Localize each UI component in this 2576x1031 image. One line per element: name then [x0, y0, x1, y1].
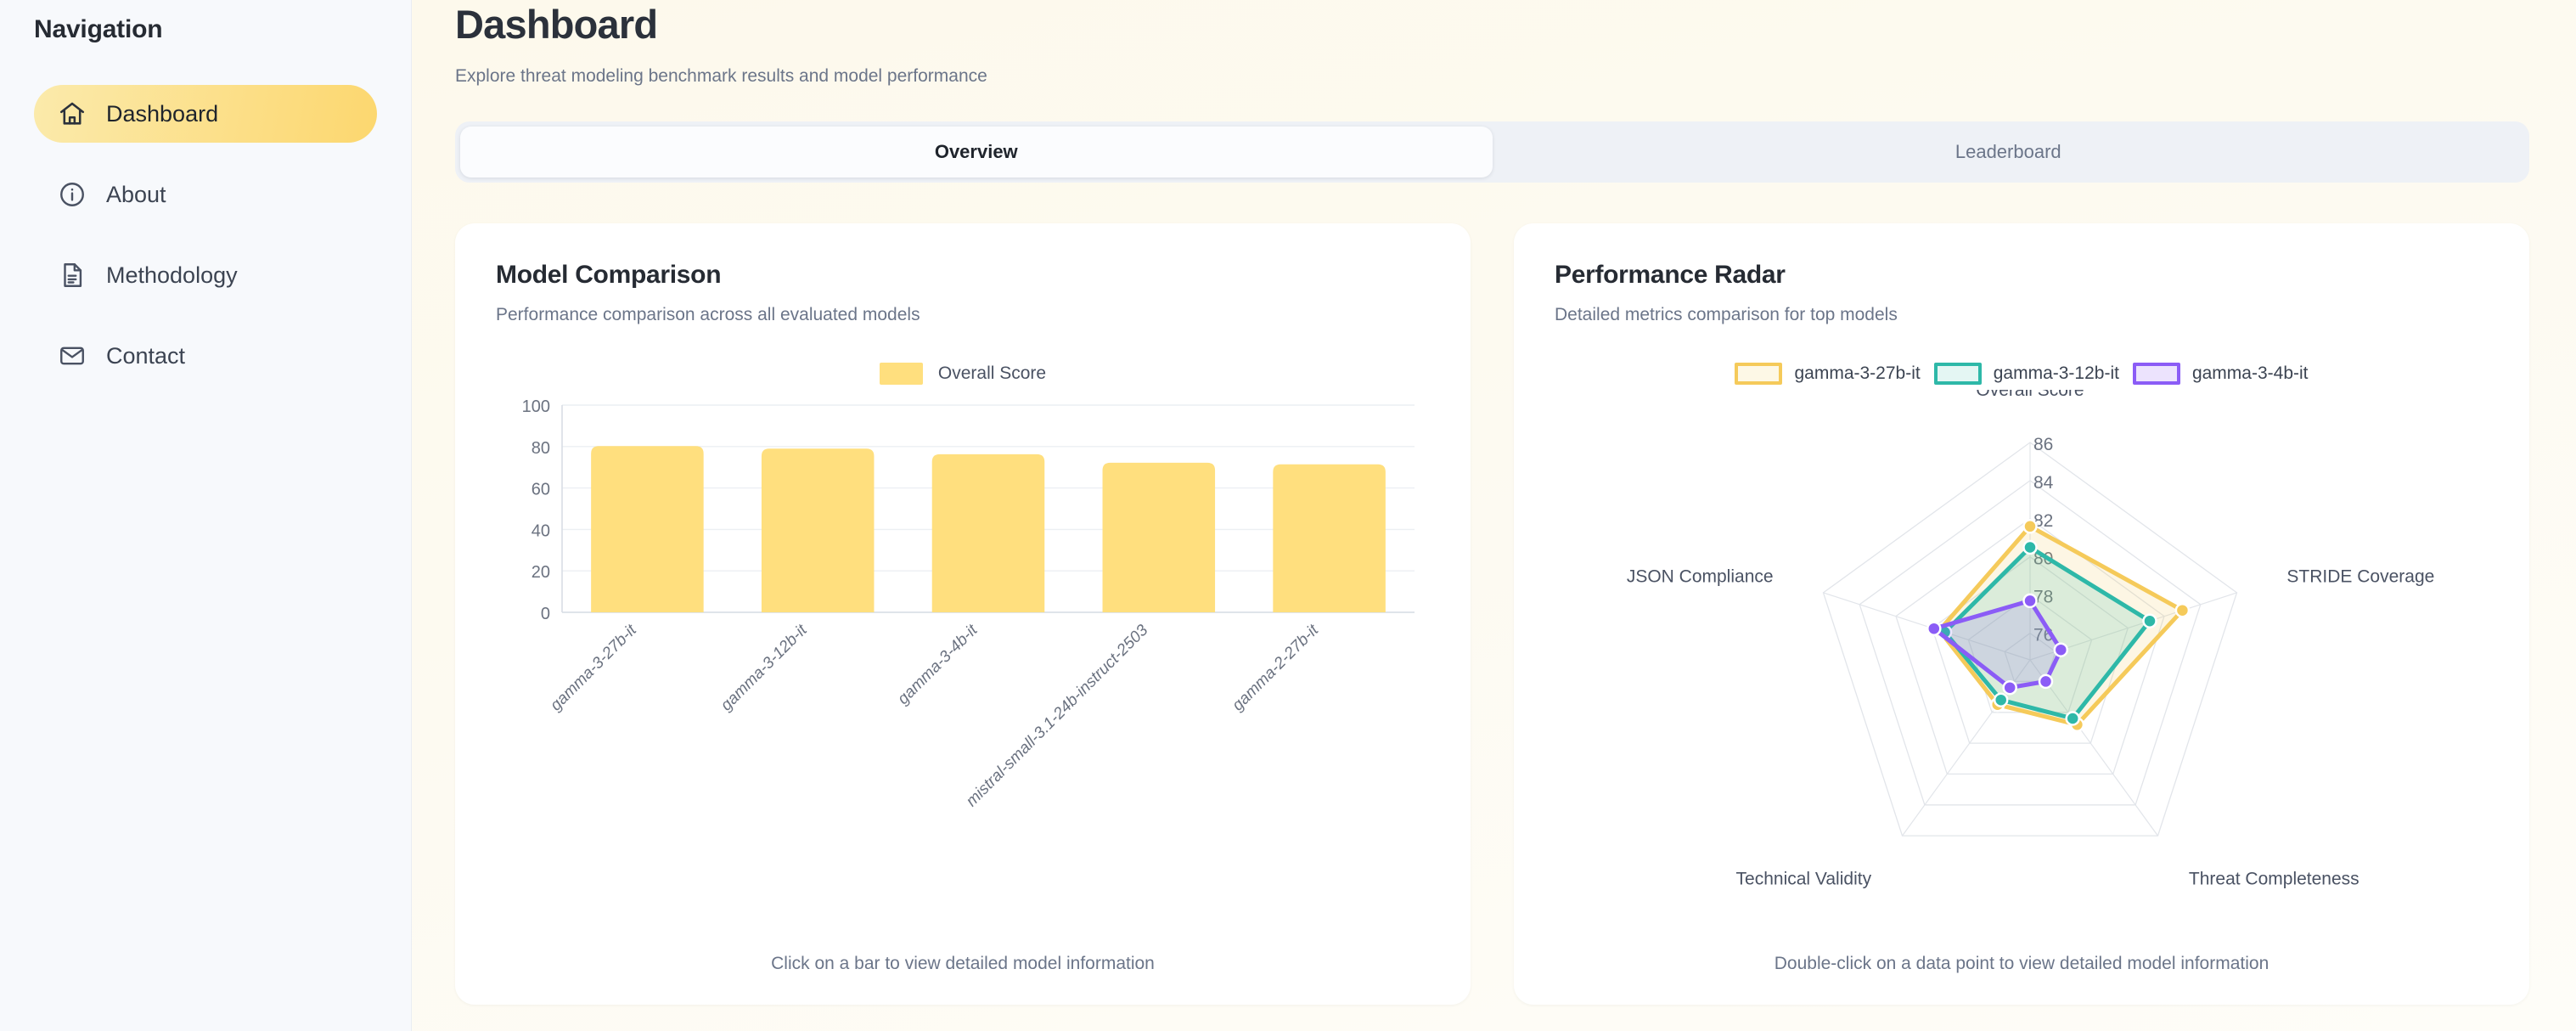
sidebar-item-dashboard[interactable]: Dashboard: [34, 85, 377, 143]
card-subtitle: Performance comparison across all evalua…: [496, 305, 1430, 325]
page-subtitle: Explore threat modeling benchmark result…: [455, 66, 2529, 87]
performance-radar-card: Performance Radar Detailed metrics compa…: [1514, 223, 2529, 1005]
legend-swatch-series-2: [1934, 363, 1982, 385]
sidebar-item-methodology[interactable]: Methodology: [34, 246, 377, 304]
legend-label-series-3: gamma-3-4b-it: [2192, 363, 2309, 384]
bar-tick-label: gamma-2-27b-it: [1229, 621, 1322, 714]
legend-item-series-2[interactable]: gamma-3-12b-it: [1934, 363, 2119, 385]
sidebar-item-label: Dashboard: [106, 101, 218, 127]
bar-tick-label: gamma-3-4b-it: [894, 621, 981, 708]
card-subtitle: Detailed metrics comparison for top mode…: [1555, 305, 2489, 325]
mail-icon: [58, 341, 87, 370]
radar-point: [2024, 541, 2037, 554]
tab-bar: Overview Leaderboard: [455, 121, 2529, 183]
radar-point: [2144, 615, 2157, 628]
legend-label-series-2: gamma-3-12b-it: [1994, 363, 2119, 384]
model-comparison-card: Model Comparison Performance comparison …: [455, 223, 1471, 1005]
svg-text:0: 0: [541, 605, 550, 623]
radar-point: [2176, 604, 2189, 617]
radar-point: [2067, 713, 2079, 725]
bar-chart-legend: Overall Score: [496, 363, 1430, 385]
radar-axis-label: Threat Completeness: [2189, 869, 2359, 888]
svg-text:20: 20: [532, 563, 550, 582]
radar-tick-label: 84: [2033, 473, 2054, 493]
radar-point: [2055, 644, 2067, 656]
sidebar: Navigation Dashboard About: [0, 0, 412, 1031]
legend-label-overall-score: Overall Score: [938, 363, 1046, 384]
bar: gamma-3-27b-it: [547, 446, 703, 714]
bar-chart-hint: Click on a bar to view detailed model in…: [455, 954, 1471, 974]
bar-tick-label: mistral-small-3.1-24b-instruct-2503: [963, 621, 1152, 810]
info-icon: [58, 180, 87, 209]
svg-text:60: 60: [532, 481, 550, 499]
svg-text:80: 80: [532, 439, 550, 458]
legend-item-series-3[interactable]: gamma-3-4b-it: [2133, 363, 2309, 385]
radar-point: [2039, 675, 2052, 688]
bar: gamma-3-4b-it: [894, 454, 1044, 708]
radar-point: [1927, 623, 1940, 635]
tab-overview[interactable]: Overview: [460, 127, 1493, 177]
tab-leaderboard[interactable]: Leaderboard: [1493, 127, 2525, 177]
radar-point: [2024, 520, 2037, 532]
radar-axis-label: STRIDE Coverage: [2286, 567, 2434, 587]
main-content: Dashboard Explore threat modeling benchm…: [412, 0, 2576, 1031]
radar-point: [2004, 681, 2016, 694]
card-title: Performance Radar: [1555, 261, 2489, 290]
radar-point: [2024, 594, 2037, 607]
sidebar-item-label: Contact: [106, 343, 185, 369]
radar-point: [1994, 694, 2007, 707]
sidebar-item-about[interactable]: About: [34, 166, 377, 223]
bar-tick-label: gamma-3-27b-it: [547, 621, 640, 714]
sidebar-nav-list: Dashboard About Methodology: [0, 85, 411, 385]
radar-chart-legend: gamma-3-27b-it gamma-3-12b-it gamma-3-4b…: [1555, 363, 2489, 385]
sidebar-item-label: About: [106, 182, 166, 208]
bar: gamma-2-27b-it: [1229, 465, 1385, 715]
radar-tick-label: 86: [2033, 435, 2053, 454]
legend-swatch-series-3: [2133, 363, 2180, 385]
radar-axis-label: Overall Score: [1976, 390, 2084, 400]
legend-swatch-series-1: [1735, 363, 1782, 385]
legend-item-series-1[interactable]: gamma-3-27b-it: [1735, 363, 1920, 385]
sidebar-item-label: Methodology: [106, 262, 238, 289]
page-title: Dashboard: [455, 0, 2529, 49]
svg-text:100: 100: [522, 397, 550, 416]
radar-chart-hint: Double-click on a data point to view det…: [1514, 954, 2529, 974]
radar-axis-label: JSON Compliance: [1627, 567, 1774, 587]
sidebar-title: Navigation: [0, 0, 411, 44]
sidebar-item-contact[interactable]: Contact: [34, 327, 377, 385]
cards-row: Model Comparison Performance comparison …: [455, 223, 2529, 1005]
document-icon: [58, 261, 87, 290]
radar-chart[interactable]: 767880828486Overall ScoreSTRIDE Coverage…: [1555, 390, 2489, 916]
card-title: Model Comparison: [496, 261, 1430, 290]
svg-text:40: 40: [532, 521, 550, 540]
radar-axis-label: Technical Validity: [1736, 869, 1872, 888]
bar-chart[interactable]: 020406080100gamma-3-27b-itgamma-3-12b-it…: [496, 392, 1430, 922]
bar-tick-label: gamma-3-12b-it: [717, 621, 811, 714]
legend-swatch-overall-score: [880, 363, 923, 385]
legend-label-series-1: gamma-3-27b-it: [1794, 363, 1920, 384]
home-icon: [58, 99, 87, 128]
